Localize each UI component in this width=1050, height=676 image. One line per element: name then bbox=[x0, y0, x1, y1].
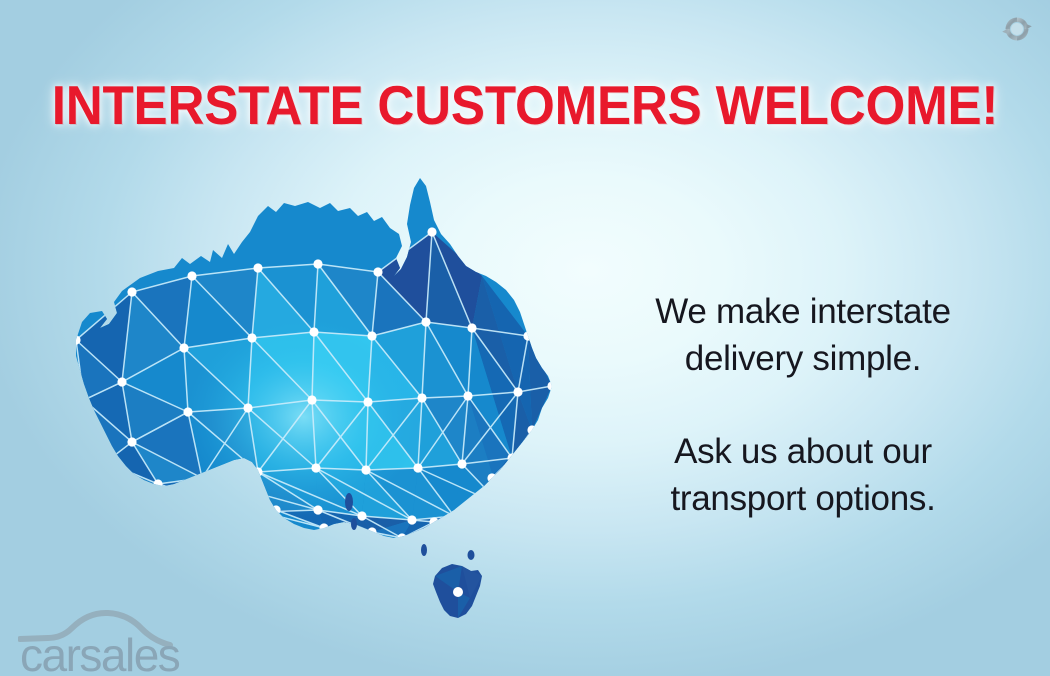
promo-slide: INTERSTATE CUSTOMERS WELCOME! bbox=[0, 0, 1050, 676]
promo-copy: We make interstate delivery simple. Ask … bbox=[608, 288, 998, 522]
carsales-logo: carsales bbox=[18, 605, 183, 676]
australia-map bbox=[62, 172, 582, 640]
copy-paragraph-2: Ask us about our transport options. bbox=[608, 428, 998, 522]
refresh-icon[interactable] bbox=[1000, 12, 1034, 46]
copy-paragraph-1: We make interstate delivery simple. bbox=[608, 288, 998, 382]
page-title: INTERSTATE CUSTOMERS WELCOME! bbox=[37, 76, 1014, 134]
svg-text:carsales: carsales bbox=[20, 629, 180, 676]
